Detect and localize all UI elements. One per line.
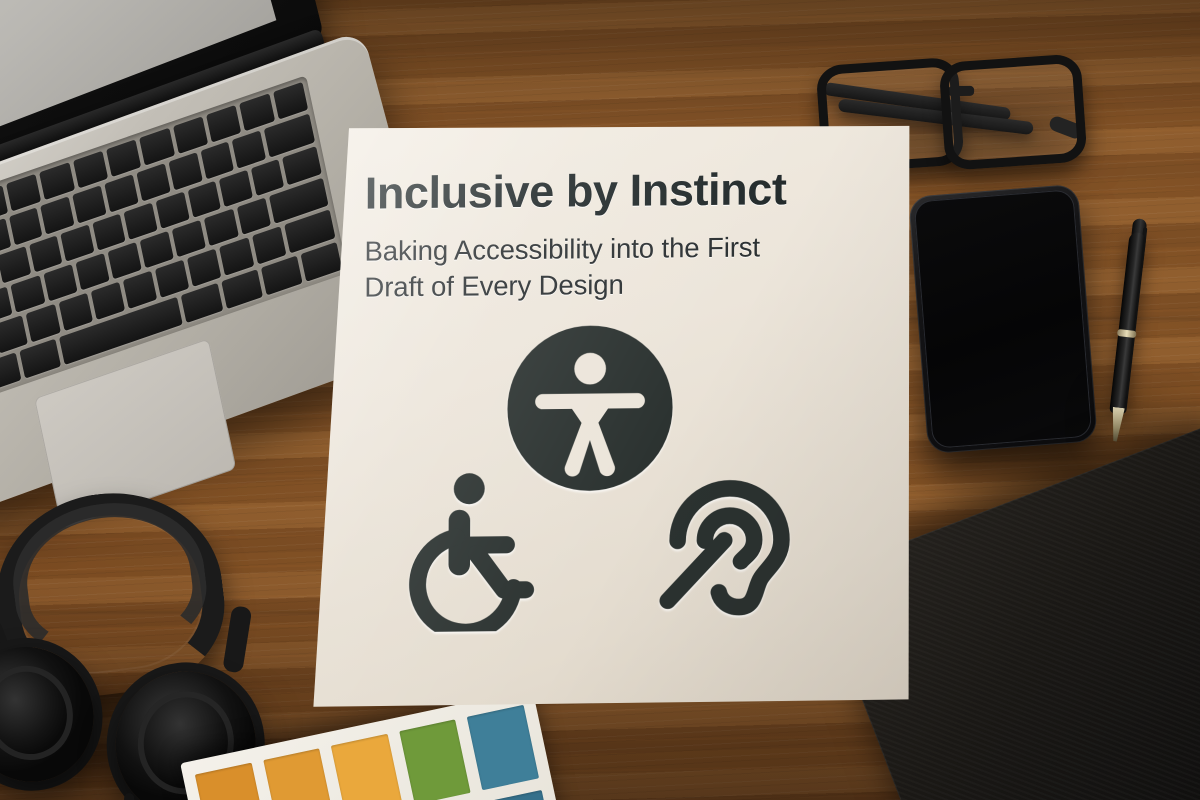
color-swatch [485, 790, 557, 800]
poster-subtitle: Baking Accessibility into the First Draf… [364, 229, 824, 306]
headphones-cable [121, 793, 134, 800]
color-swatch [467, 705, 539, 790]
headphones-arm-right [222, 605, 252, 673]
page-title: Inclusive by Instinct [365, 165, 865, 217]
desk-scene: Inclusive by Instinct Baking Accessibili… [0, 0, 1200, 800]
accessibility-poster[interactable]: Inclusive by Instinct Baking Accessibili… [311, 119, 913, 709]
color-swatch [399, 719, 471, 800]
poster-icon-group [311, 319, 912, 685]
poster-subtitle-line-2: Draft of Every Design [364, 269, 623, 303]
color-swatch [195, 763, 267, 800]
ear-hearing-icon [641, 448, 818, 626]
smartphone[interactable] [908, 184, 1098, 455]
glasses-lens-right [938, 53, 1087, 171]
color-swatch [331, 734, 403, 800]
wheelchair-icon [403, 462, 572, 632]
color-swatch [263, 748, 335, 800]
phone-screen[interactable] [914, 189, 1093, 449]
poster-subtitle-line-1: Baking Accessibility into the First [365, 231, 761, 266]
